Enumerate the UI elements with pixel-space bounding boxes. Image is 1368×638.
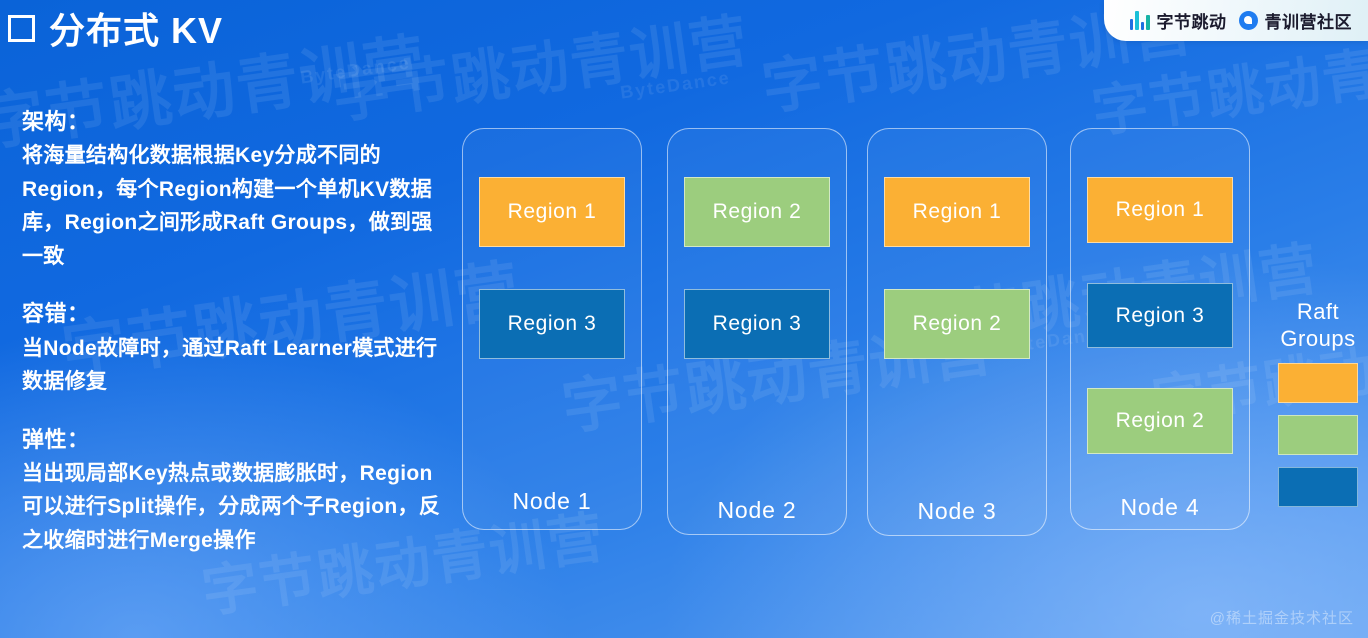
page-title-text: 分布式 KV (49, 2, 223, 54)
node-label: Node 3 (918, 498, 997, 525)
community-label: 青训营社区 (1265, 8, 1353, 33)
node-label: Node 4 (1121, 494, 1200, 521)
section-heading: 架构： (22, 105, 452, 139)
region-box: Region 3 (684, 289, 830, 359)
node-diagram: Region 1 Region 3 Node 1 Region 2 Region… (462, 128, 1262, 533)
section-body: 当Node故障时，通过Raft Learner模式进行数据修复 (22, 332, 452, 399)
ring-logo-icon (1239, 11, 1258, 30)
node-card-4: Region 1 Region 3 Region 2 Node 4 (1070, 128, 1250, 530)
empty-square-icon (8, 15, 35, 42)
node-label: Node 2 (718, 497, 797, 524)
section-architecture: 架构： 将海量结构化数据根据Key分成不同的Region，每个Region构建一… (22, 105, 452, 273)
section-body: 将海量结构化数据根据Key分成不同的Region，每个Region构建一个单机K… (22, 139, 452, 273)
brand-logo-badge: 字节跳动 青训营社区 (1104, 0, 1368, 41)
section-elasticity: 弹性： 当出现局部Key热点或数据膨胀时，Region可以进行Split操作，分… (22, 423, 452, 558)
section-heading: 容错： (22, 297, 452, 331)
section-heading: 弹性： (22, 423, 452, 457)
bytedance-label: 字节跳动 (1157, 8, 1227, 33)
node-card-3: Region 1 Region 2 Node 3 (867, 128, 1047, 536)
region-box: Region 2 (884, 289, 1030, 359)
region-box: Region 2 (684, 177, 830, 247)
region-box: Region 1 (479, 177, 625, 247)
legend-swatch-orange (1278, 363, 1358, 403)
community-logo: 青训营社区 (1239, 8, 1353, 33)
description-column: 架构： 将海量结构化数据根据Key分成不同的Region，每个Region构建一… (22, 105, 452, 558)
legend-swatch-green (1278, 415, 1358, 455)
region-box: Region 3 (479, 289, 625, 359)
region-box: Region 2 (1087, 388, 1233, 454)
corner-watermark: @稀土掘金技术社区 (1210, 607, 1354, 628)
page-title: 分布式 KV (8, 2, 223, 54)
legend-title: Raft Groups (1272, 298, 1364, 353)
node-card-2: Region 2 Region 3 Node 2 (667, 128, 847, 535)
legend-swatch-blue (1278, 467, 1358, 507)
section-fault-tolerance: 容错： 当Node故障时，通过Raft Learner模式进行数据修复 (22, 297, 452, 398)
region-box: Region 1 (1087, 177, 1233, 243)
background-watermark-small-text: ByteDance (619, 67, 732, 103)
node-card-1: Region 1 Region 3 Node 1 (462, 128, 642, 530)
region-box: Region 3 (1087, 283, 1233, 349)
legend: Raft Groups (1272, 298, 1364, 519)
background-watermark-small-text: ByteDance (299, 52, 412, 88)
region-box: Region 1 (884, 177, 1030, 247)
bar-chart-icon (1130, 11, 1150, 30)
bytedance-logo: 字节跳动 (1130, 8, 1227, 33)
section-body: 当出现局部Key热点或数据膨胀时，Region可以进行Split操作，分成两个子… (22, 457, 452, 558)
node-label: Node 1 (513, 488, 592, 515)
